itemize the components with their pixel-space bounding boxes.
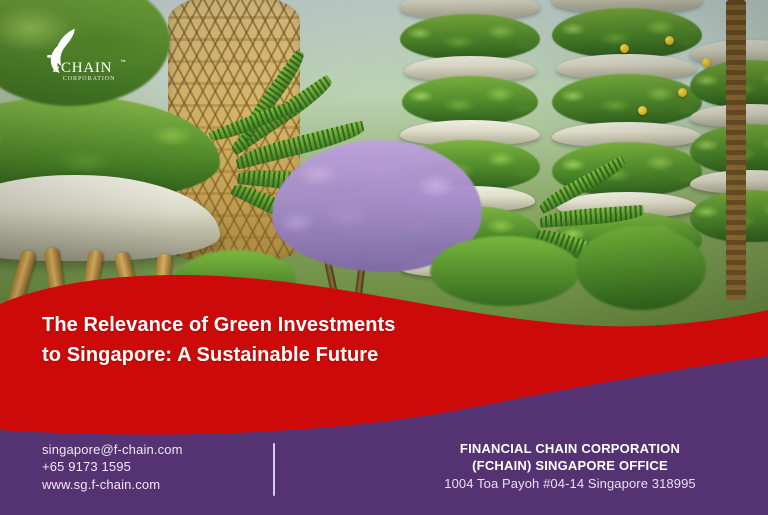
contact-email[interactable]: singapore@f-chain.com bbox=[42, 441, 183, 458]
title-line-1: The Relevance of Green Investments bbox=[42, 310, 512, 340]
fruit bbox=[702, 58, 711, 67]
office-address: 1004 Toa Payoh #04-14 Singapore 318995 bbox=[400, 475, 740, 493]
logo-wordmark: FCHAIN bbox=[52, 60, 112, 76]
fruit bbox=[638, 106, 647, 115]
company-name-line-2: (FCHAIN) SINGAPORE OFFICE bbox=[400, 457, 740, 474]
logo-trademark: ™ bbox=[120, 59, 125, 65]
company-name-line-1: FINANCIAL CHAIN CORPORATION bbox=[400, 440, 740, 457]
page-title: The Relevance of Green Investments to Si… bbox=[42, 310, 512, 371]
logo-subtext: CORPORATION bbox=[63, 76, 116, 82]
tree-trunk bbox=[726, 0, 746, 300]
fruit bbox=[665, 36, 674, 45]
title-line-2: to Singapore: A Sustainable Future bbox=[42, 340, 512, 370]
contact-block: singapore@f-chain.com +65 9173 1595 www.… bbox=[42, 441, 183, 493]
promotional-banner: FCHAIN ™ CORPORATION The Relevance of Gr… bbox=[0, 0, 768, 515]
fruit bbox=[620, 44, 629, 53]
contact-phone[interactable]: +65 9173 1595 bbox=[42, 458, 183, 475]
footer-divider bbox=[273, 443, 275, 496]
office-block: FINANCIAL CHAIN CORPORATION (FCHAIN) SIN… bbox=[400, 440, 740, 493]
contact-website[interactable]: www.sg.f-chain.com bbox=[42, 476, 183, 493]
fruit bbox=[678, 88, 687, 97]
fchain-logo[interactable]: FCHAIN ™ CORPORATION bbox=[40, 26, 136, 84]
